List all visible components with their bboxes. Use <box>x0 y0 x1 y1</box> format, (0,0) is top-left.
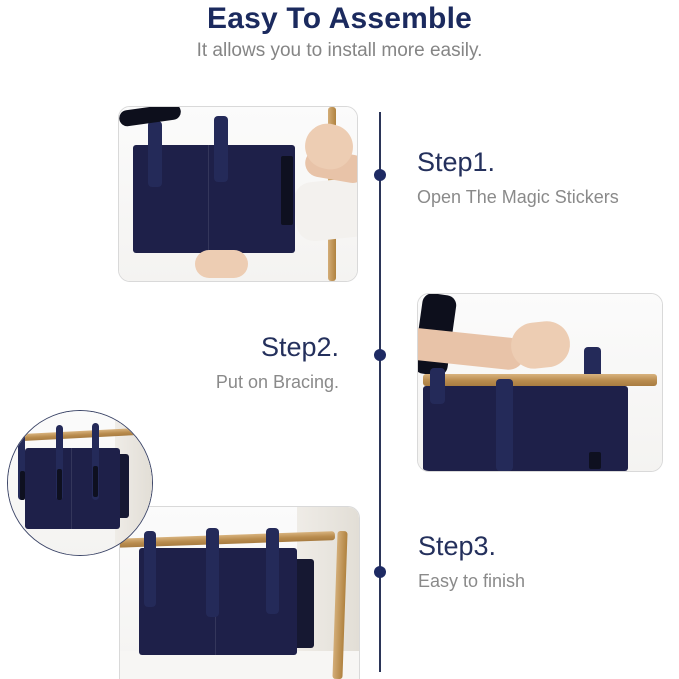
step3-photo <box>119 506 360 679</box>
timeline-dot-step3 <box>374 566 386 578</box>
caddy-strap <box>266 528 279 614</box>
step3-heading: Step3. <box>418 532 525 562</box>
velcro-patch <box>281 156 293 226</box>
step1-scene <box>119 107 357 281</box>
step1-description: Open The Magic Stickers <box>417 187 619 209</box>
caddy-strap <box>430 368 445 403</box>
caddy-strap <box>206 528 219 617</box>
velcro-patch <box>589 452 601 470</box>
step2-photo <box>417 293 663 472</box>
page-title: Easy To Assemble <box>0 2 679 36</box>
velcro-patch <box>57 469 62 501</box>
scene-floor <box>120 651 359 679</box>
velcro-patch <box>93 466 98 498</box>
timeline-dot-step2 <box>374 349 386 361</box>
step3-description: Easy to finish <box>418 571 525 593</box>
step2-description: Put on Bracing. <box>216 372 339 394</box>
caddy-strap <box>148 121 162 187</box>
timeline-track <box>379 112 381 672</box>
step2-text-block: Step2. Put on Bracing. <box>216 333 339 393</box>
sleeve-shape <box>292 176 358 243</box>
step3-text-block: Step3. Easy to finish <box>418 532 525 592</box>
hand-shape <box>195 250 247 278</box>
bed-rail-icon <box>423 374 657 386</box>
step1-photo <box>118 106 358 282</box>
step2-scene <box>418 294 662 471</box>
infographic-canvas: Easy To Assemble It allows you to instal… <box>0 0 679 678</box>
step1-heading: Step1. <box>417 148 619 178</box>
step3-scene <box>120 507 359 679</box>
pocket-seam <box>208 145 210 253</box>
pocket-seam <box>71 448 73 529</box>
inset-scene <box>8 411 152 555</box>
circular-detail-zoom <box>7 410 153 556</box>
timeline-dot-step1 <box>374 169 386 181</box>
page-subtitle: It allows you to install more easily. <box>0 40 679 62</box>
caddy-body <box>25 448 120 529</box>
caddy-strap <box>496 379 513 471</box>
step1-text-block: Step1. Open The Magic Stickers <box>417 148 619 208</box>
velcro-patch <box>20 471 25 500</box>
step2-heading: Step2. <box>216 333 339 363</box>
caddy-strap <box>214 116 228 182</box>
